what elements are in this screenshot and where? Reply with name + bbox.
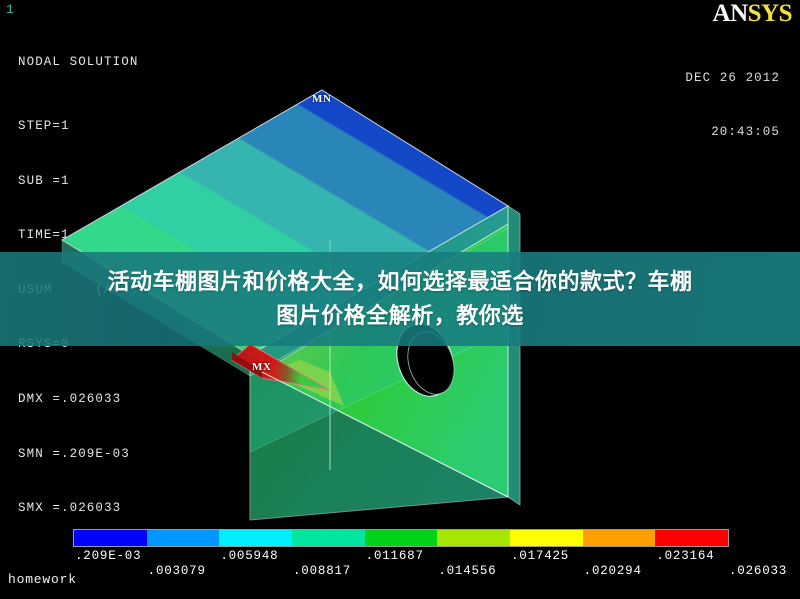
legend-tick-4: .011687 [366, 549, 424, 563]
legend-swatch-3 [292, 530, 365, 546]
overlay-banner: 活动车棚图片和价格大全，如何选择最适合你的款式？车棚图片价格全解析，教你选 [0, 252, 800, 346]
max-node-label: MX [252, 361, 272, 373]
min-node-label: MN [312, 93, 332, 105]
legend-tick-5: .014556 [438, 564, 496, 578]
legend-swatch-1 [147, 530, 220, 546]
legend-tick-9: .026033 [729, 564, 787, 578]
legend-tick-7: .020294 [584, 564, 642, 578]
overlay-title: 活动车棚图片和价格大全，如何选择最适合你的款式？车棚图片价格全解析，教你选 [100, 265, 700, 333]
legend-swatch-7 [583, 530, 656, 546]
legend-swatch-8 [655, 530, 728, 546]
legend-swatch-5 [437, 530, 510, 546]
legend-tick-1: .003079 [148, 564, 206, 578]
legend-tick-6: .017425 [511, 549, 569, 563]
legend-tick-8: .023164 [656, 549, 714, 563]
footer-text: homework [8, 572, 77, 587]
model-web-right-edge [508, 206, 520, 505]
contour-legend-labels-lower: .003079.008817.014556.020294.026033 [0, 564, 800, 580]
legend-swatch-4 [365, 530, 438, 546]
legend-swatch-6 [510, 530, 583, 546]
contour-legend-bar [73, 529, 729, 547]
ansys-plot-window: 1 NODAL SOLUTION STEP=1 SUB =1 TIME=1 US… [0, 0, 800, 599]
legend-tick-0: .209E-03 [75, 549, 141, 563]
contour-legend-labels-upper: .209E-03.005948.011687.017425.023164 [0, 549, 800, 565]
legend-swatch-0 [74, 530, 147, 546]
legend-tick-3: .008817 [293, 564, 351, 578]
legend-tick-2: .005948 [220, 549, 278, 563]
legend-swatch-2 [219, 530, 292, 546]
